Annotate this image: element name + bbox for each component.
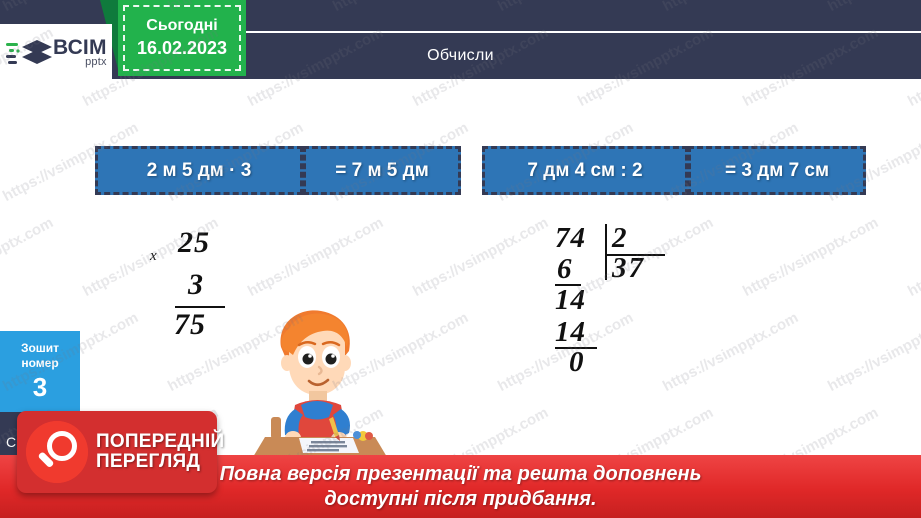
watermark-text: https://vsimpptx.com bbox=[0, 214, 56, 300]
purchase-banner-line2: доступні після придбання. bbox=[324, 488, 596, 511]
watermark-text: https://vsimpptx.com bbox=[660, 309, 801, 395]
preview-plaque[interactable]: ПОПЕРЕДНІЙ ПЕРЕГЛЯД bbox=[17, 411, 217, 493]
expression-chip-1: 2 м 5 дм · 3 bbox=[95, 146, 303, 195]
division-step-2: 14 bbox=[555, 284, 586, 317]
division-divisor: 2 bbox=[612, 222, 627, 255]
division-remainder: 0 bbox=[569, 346, 584, 379]
division-vertical-rule bbox=[605, 224, 607, 280]
watermark-text: https://vsimpptx.com bbox=[825, 309, 921, 395]
multiplication-factor2: 3 bbox=[188, 268, 204, 302]
preview-line2: ПЕРЕГЛЯД bbox=[96, 452, 224, 472]
multiplication-operator: x bbox=[150, 248, 157, 265]
division-quotient: 37 bbox=[612, 252, 645, 285]
purchase-banner-line1: Повна версія презентації та решта доповн… bbox=[220, 463, 702, 486]
expression-result-2: = 3 дм 7 см bbox=[688, 146, 866, 195]
watermark-text: https://vsimpptx.com bbox=[905, 214, 921, 300]
multiplication-factor1: 25 bbox=[178, 226, 210, 260]
watermark-text: https://vsimpptx.com bbox=[410, 214, 551, 300]
expression-chip-2: 7 дм 4 см : 2 bbox=[482, 146, 688, 195]
notebook-badge-line2: номер bbox=[21, 356, 58, 371]
boy-at-desk-illustration bbox=[243, 305, 395, 480]
notebook-badge-number: 3 bbox=[33, 372, 47, 403]
watermark-text: https://vsimpptx.com bbox=[575, 214, 716, 300]
brand-name: ВСІМ bbox=[53, 37, 107, 58]
division-step-3: 14 bbox=[555, 316, 586, 349]
slide-canvas: Обчисли ВСІМ pptx Сьогодні 16.02.2023 2 … bbox=[0, 0, 921, 518]
preview-line1: ПОПЕРЕДНІЙ bbox=[96, 432, 224, 452]
preview-plaque-text: ПОПЕРЕДНІЙ ПЕРЕГЛЯД bbox=[96, 432, 224, 473]
date-badge: Сьогодні 16.02.2023 bbox=[118, 0, 246, 76]
graduation-cap-icon bbox=[6, 35, 52, 69]
date-badge-value: 16.02.2023 bbox=[137, 38, 227, 59]
notebook-badge-line1: Зошит bbox=[21, 341, 59, 356]
multiplication-product: 75 bbox=[174, 308, 206, 342]
watermark-text: https://vsimpptx.com bbox=[245, 214, 386, 300]
date-badge-label: Сьогодні bbox=[146, 17, 217, 35]
expression-result-1: = 7 м 5 дм bbox=[303, 146, 461, 195]
notebook-number-badge: Зошит номер 3 bbox=[0, 331, 80, 412]
division-step-1: 6 bbox=[557, 253, 572, 286]
magnifier-icon bbox=[26, 421, 88, 483]
brand-logo-text: ВСІМ pptx bbox=[53, 37, 107, 68]
watermark-text: https://vsimpptx.com bbox=[740, 214, 881, 300]
brand-logo: ВСІМ pptx bbox=[0, 24, 112, 80]
division-dividend: 74 bbox=[555, 222, 586, 255]
